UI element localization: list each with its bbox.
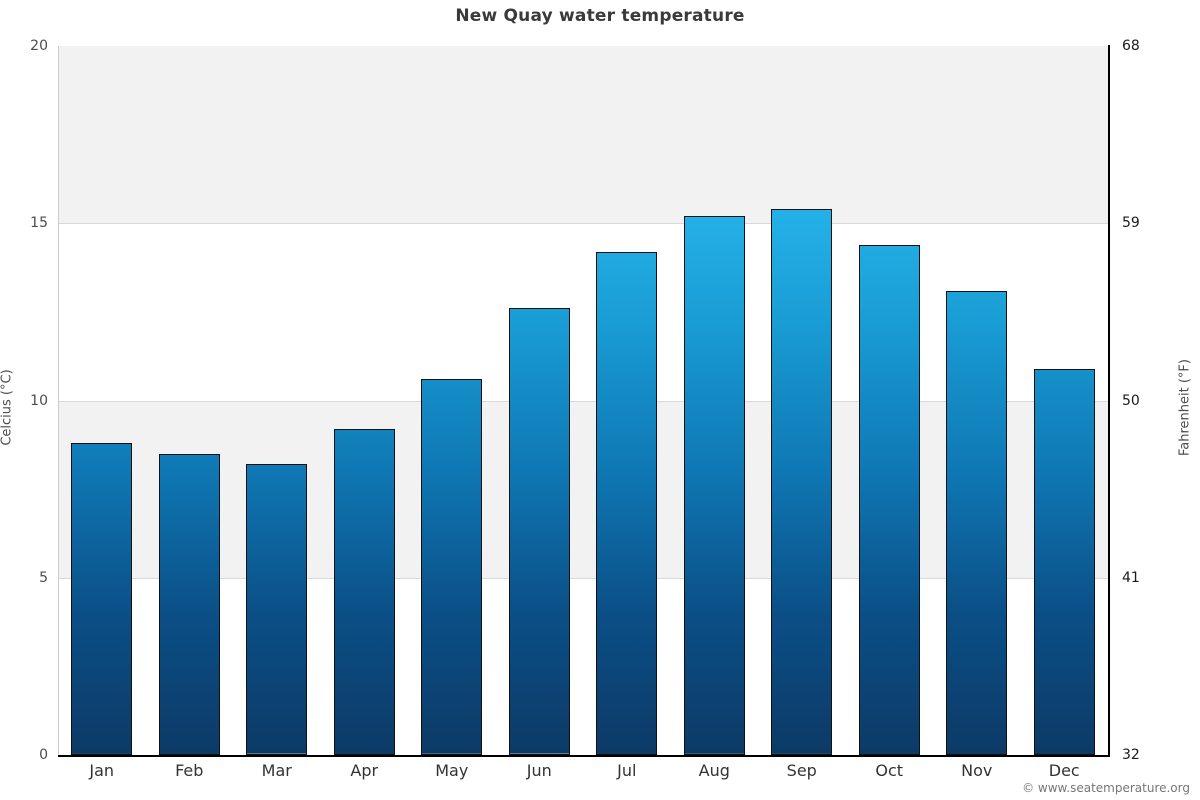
bar-aug[interactable] bbox=[684, 216, 745, 755]
copyright-credit: © www.seatemperature.org bbox=[1022, 781, 1190, 795]
bar-may[interactable] bbox=[421, 379, 482, 755]
x-axis-tick-label-aug: Aug bbox=[670, 761, 758, 780]
bar-feb[interactable] bbox=[159, 454, 220, 755]
y-axis-right-tick-label: 68 bbox=[1122, 38, 1166, 54]
y-axis-left-tick-label: 0 bbox=[8, 747, 48, 763]
bar-series bbox=[58, 46, 1108, 755]
bar-mar[interactable] bbox=[246, 464, 307, 755]
y-axis-left-tick-label: 15 bbox=[8, 215, 48, 231]
x-axis-tick-label-feb: Feb bbox=[145, 761, 233, 780]
y-axis-left-tick-label: 5 bbox=[8, 570, 48, 586]
x-axis-tick-label-oct: Oct bbox=[845, 761, 933, 780]
y-axis-right-title: Fahrenheit (°F) bbox=[1178, 343, 1193, 473]
x-axis-tick-label-nov: Nov bbox=[933, 761, 1021, 780]
x-axis-tick-label-jan: Jan bbox=[58, 761, 146, 780]
bar-nov[interactable] bbox=[946, 291, 1007, 755]
x-axis-tick-label-apr: Apr bbox=[320, 761, 408, 780]
x-axis-tick-label-sep: Sep bbox=[758, 761, 846, 780]
y-axis-right-line bbox=[1108, 45, 1110, 757]
x-axis-line bbox=[58, 755, 1110, 757]
bar-jun[interactable] bbox=[509, 308, 570, 755]
bar-sep[interactable] bbox=[771, 209, 832, 755]
y-axis-right-tick-label: 32 bbox=[1122, 747, 1166, 763]
x-axis-tick-label-may: May bbox=[408, 761, 496, 780]
chart-title: New Quay water temperature bbox=[0, 6, 1200, 26]
bar-jan[interactable] bbox=[71, 443, 132, 755]
x-axis-tick-label-jul: Jul bbox=[583, 761, 671, 780]
y-axis-right-tick-label: 41 bbox=[1122, 570, 1166, 586]
water-temperature-chart: New Quay water temperature 20151050 6859… bbox=[0, 0, 1200, 800]
x-axis-tick-label-mar: Mar bbox=[233, 761, 321, 780]
bar-apr[interactable] bbox=[334, 429, 395, 755]
bar-dec[interactable] bbox=[1034, 369, 1095, 755]
y-axis-left-title: Celcius (°C) bbox=[0, 348, 15, 468]
bar-oct[interactable] bbox=[859, 245, 920, 755]
y-axis-right-tick-label: 59 bbox=[1122, 215, 1166, 231]
x-axis-tick-label-jun: Jun bbox=[495, 761, 583, 780]
y-axis-left-tick-label: 20 bbox=[8, 38, 48, 54]
x-axis-tick-label-dec: Dec bbox=[1020, 761, 1108, 780]
bar-jul[interactable] bbox=[596, 252, 657, 755]
y-axis-right-tick-label: 50 bbox=[1122, 393, 1166, 409]
